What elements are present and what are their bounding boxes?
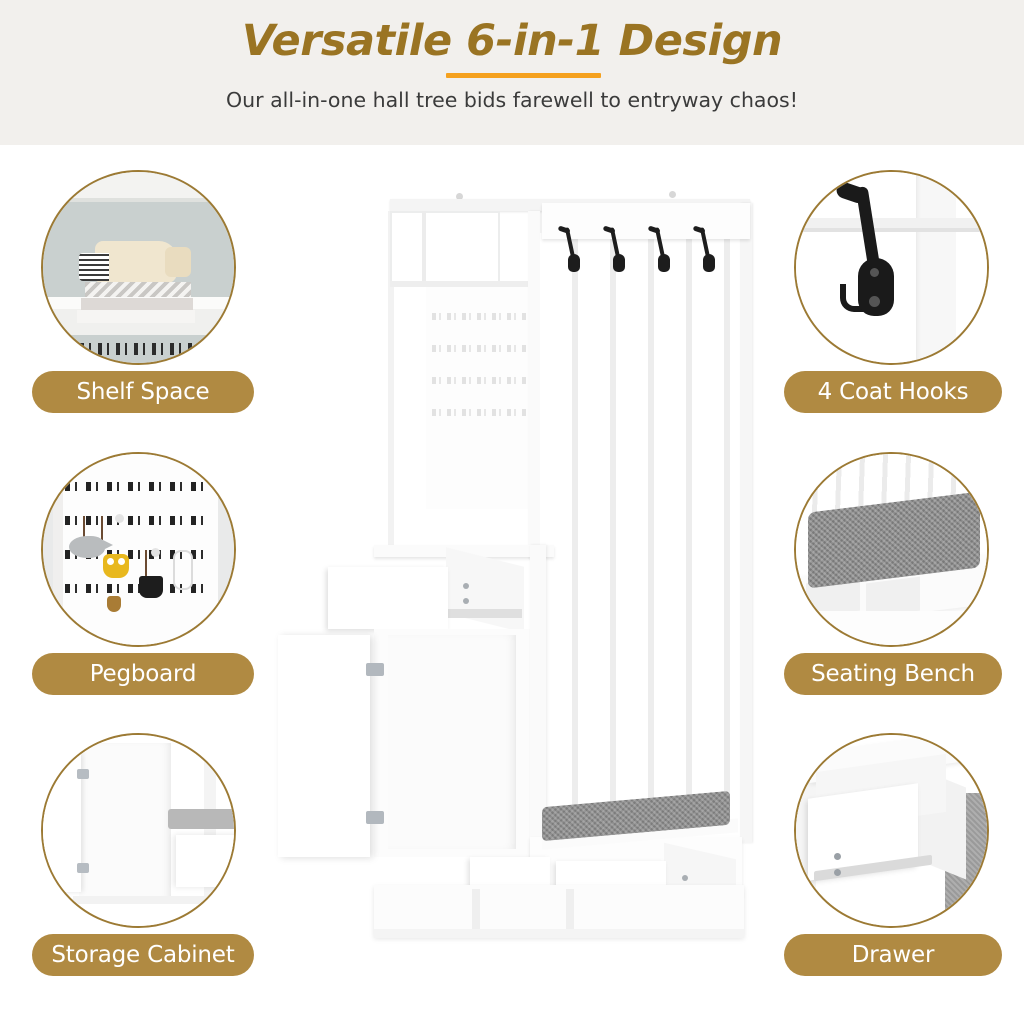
keyring-icon [173, 550, 193, 590]
cabinet-door-open [278, 635, 370, 857]
slatted-back-panel [540, 233, 752, 833]
purse-charm-icon [139, 576, 163, 598]
pegboard-slot-row [432, 377, 528, 384]
drawer-slide-screw [463, 598, 469, 604]
pegboard-slot-row [432, 313, 528, 320]
callout-image-coat-hooks [794, 170, 989, 365]
cubby-divider [472, 889, 480, 929]
cabinet-door [41, 753, 81, 892]
hook-mounting-plate [858, 258, 894, 316]
callout-image-seating-bench [794, 452, 989, 647]
product-image-hall-tree [270, 185, 760, 945]
upper-drawer-front [328, 567, 448, 629]
callout-shelf-space: Shelf Space [18, 170, 248, 413]
wall-anchor-screw [669, 191, 676, 198]
page-subtitle: Our all-in-one hall tree bids farewell t… [0, 88, 1024, 112]
hinge-icon [366, 663, 384, 676]
cubby-divider [566, 889, 574, 929]
drawer-scene-art [796, 735, 987, 926]
hinge-icon [77, 863, 89, 873]
right-side-panel [740, 203, 752, 843]
cabinet-scene-art [43, 735, 234, 926]
upper-drawer-slide [448, 609, 522, 618]
callout-seating-bench: Seating Bench [776, 452, 1006, 695]
striped-fan-icon [79, 253, 109, 281]
pegboard-slot-row [432, 409, 528, 416]
drawer-slide-screw [682, 875, 688, 881]
shelf-divider [422, 211, 426, 283]
coat-hook-icon [612, 227, 625, 267]
product-pegboard-panel [426, 287, 534, 509]
callout-coat-hooks: 4 Coat Hooks [776, 170, 1006, 413]
callout-pegboard: Pegboard [18, 452, 248, 695]
shelf-scene-art [43, 172, 234, 363]
owl-charm-icon [103, 554, 129, 578]
callout-label-shelf-space: Shelf Space [32, 371, 254, 413]
bird-charm-icon [69, 536, 105, 558]
callout-image-shelf-space [41, 170, 236, 365]
callout-label-coat-hooks: 4 Coat Hooks [784, 371, 1002, 413]
callout-label-seating-bench: Seating Bench [784, 653, 1002, 695]
hinge-icon [77, 769, 89, 779]
drawer-slide-screw [463, 583, 469, 589]
callout-drawer: Drawer [776, 733, 1006, 976]
callout-label-drawer: Drawer [784, 934, 1002, 976]
upper-drawer-side [446, 547, 524, 632]
center-divider-panel [528, 211, 540, 559]
open-shelf-compartment [390, 211, 500, 283]
page-title: Versatile 6-in-1 Design [0, 16, 1024, 66]
cabinet-interior [388, 635, 516, 849]
peg-slot-row [62, 343, 215, 355]
pegboard-scene-art [43, 454, 234, 645]
coat-hook-icon [702, 227, 715, 267]
coat-hook-icon [567, 227, 580, 267]
callout-image-pegboard [41, 452, 236, 647]
bell-charm-icon [107, 596, 121, 612]
pegboard-slot-row [432, 345, 528, 352]
callout-storage-cabinet: Storage Cabinet [18, 733, 248, 976]
coat-hook-icon [657, 227, 670, 267]
title-underline-accent [446, 73, 601, 78]
base-lip [374, 929, 744, 938]
callout-label-storage-cabinet: Storage Cabinet [32, 934, 254, 976]
hinge-icon [366, 811, 384, 824]
coat-hook-scene-art [796, 172, 987, 363]
callout-image-drawer [794, 733, 989, 928]
callout-label-pegboard: Pegboard [32, 653, 254, 695]
bench-scene-art [796, 454, 987, 645]
callout-image-storage-cabinet [41, 733, 236, 928]
